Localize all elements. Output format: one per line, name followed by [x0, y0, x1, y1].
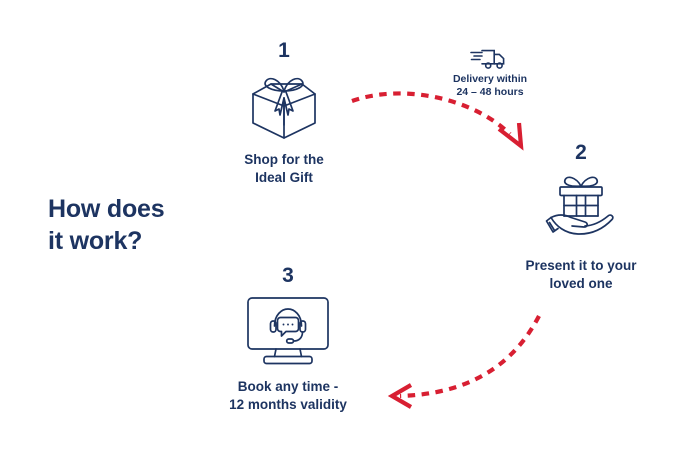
arrow-step2-to-step3: [392, 316, 539, 407]
delivery-note-line-1: Delivery within: [432, 73, 548, 86]
step-2-caption-line-1: Present it to your: [500, 257, 662, 275]
step-3-number: 3: [202, 265, 374, 286]
delivery-note: Delivery within 24 – 48 hours: [432, 48, 548, 100]
step-3-caption-line-2: 12 months validity: [202, 396, 374, 414]
step-3: 3: [202, 265, 374, 414]
step-3-caption-line-1: Book any time -: [202, 378, 374, 396]
step-2: 2: [500, 142, 662, 293]
step-1-number: 1: [206, 40, 362, 61]
step-2-caption-line-2: loved one: [500, 275, 662, 293]
gift-box-icon: [206, 66, 362, 142]
page-title-line-2: it work?: [48, 225, 238, 257]
step-2-number: 2: [500, 142, 662, 163]
infographic-canvas: How does it work?: [0, 0, 700, 457]
delivery-note-line-2: 24 – 48 hours: [432, 86, 548, 99]
gift-in-hand-icon: [500, 168, 662, 248]
step-1-caption-line-1: Shop for the: [206, 151, 362, 169]
step-2-caption: Present it to your loved one: [500, 257, 662, 293]
step-3-caption: Book any time - 12 months validity: [202, 378, 374, 414]
step-1-caption: Shop for the Ideal Gift: [206, 151, 362, 187]
delivery-truck-icon: [432, 48, 548, 70]
step-1-caption-line-2: Ideal Gift: [206, 169, 362, 187]
step-1: 1 Sh: [206, 40, 362, 187]
arrow-step1-to-step2: [352, 93, 521, 146]
page-title-line-1: How does: [48, 193, 238, 225]
page-title: How does it work?: [48, 193, 238, 257]
delivery-note-text: Delivery within 24 – 48 hours: [432, 73, 548, 100]
monitor-support-icon: [202, 291, 374, 369]
